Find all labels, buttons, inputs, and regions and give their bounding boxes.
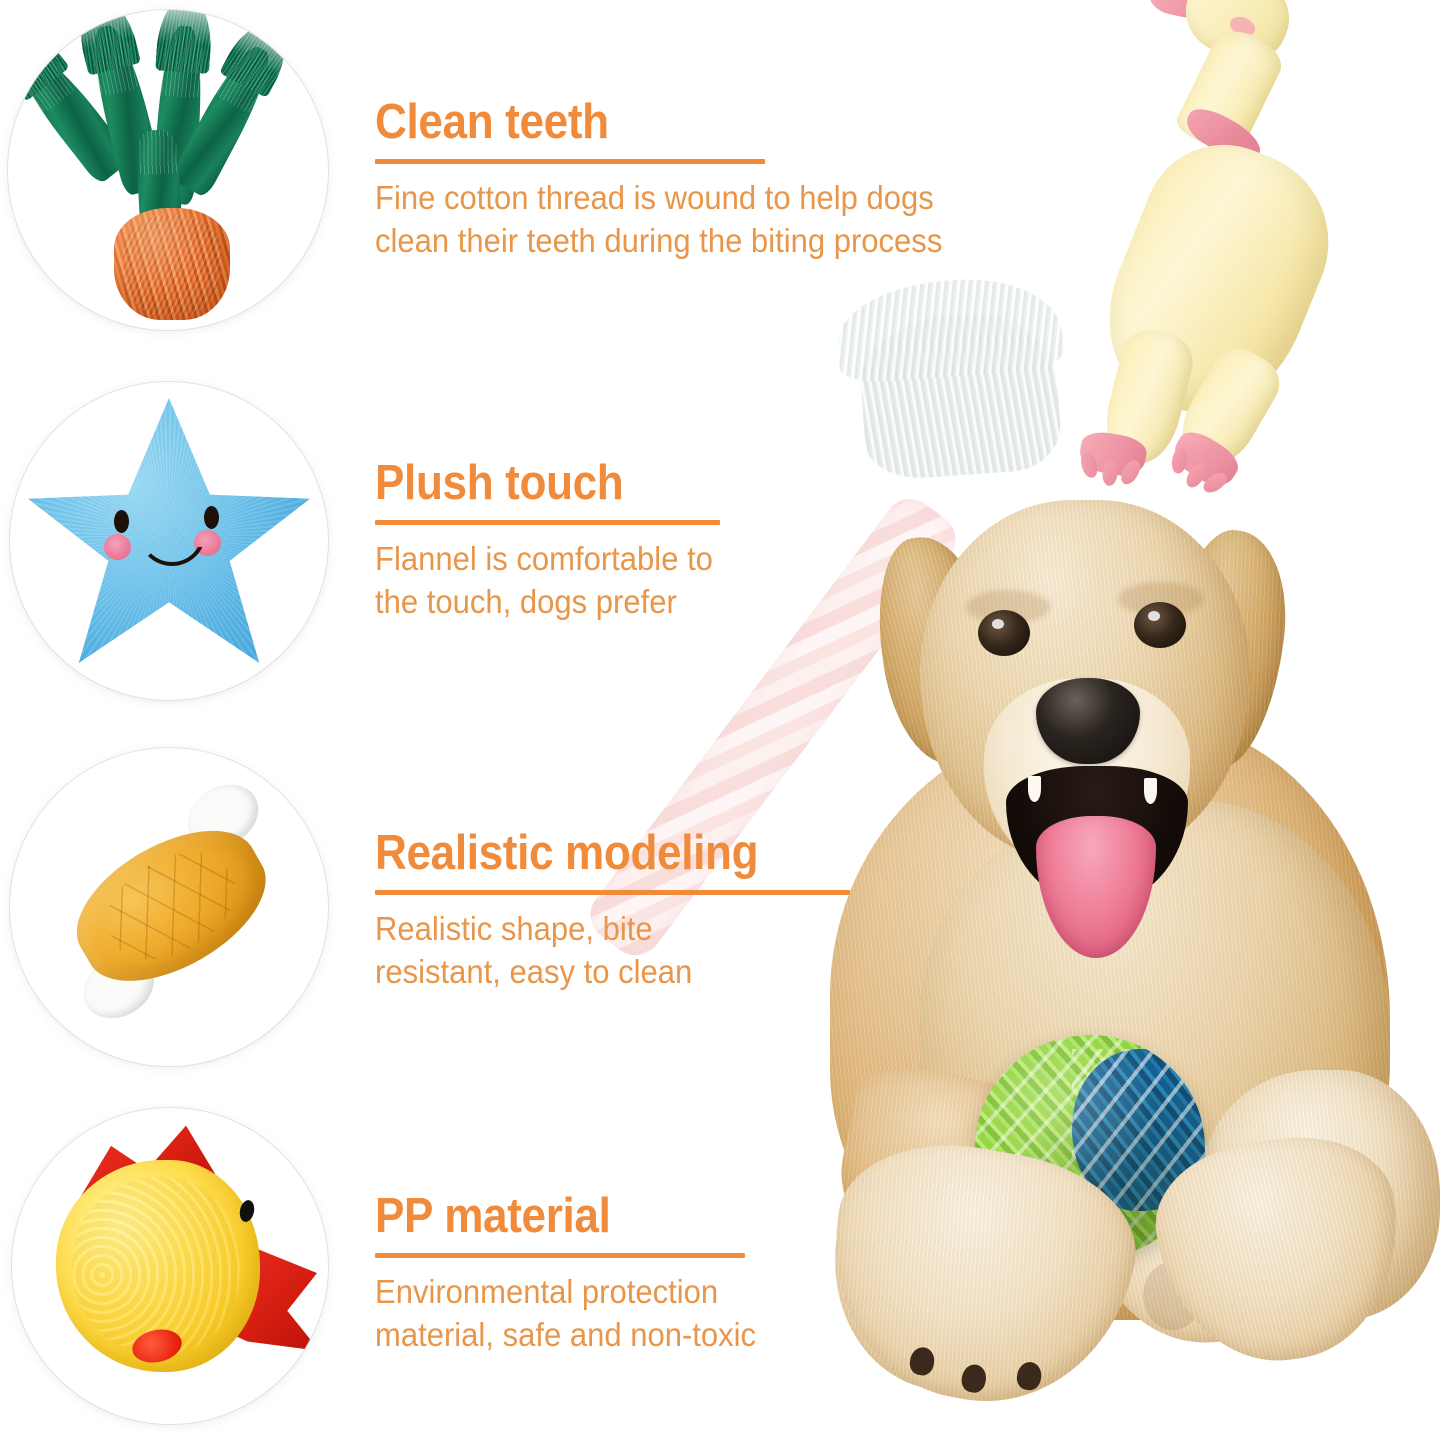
feature-underline [375,159,765,164]
feature-block-pp-material: PP material Environmental protection mat… [375,1192,1055,1357]
feature-description-plush-touch: Flannel is comfortable to the touch, dog… [375,538,977,624]
thumbnail-drumstick-plush-toy[interactable] [10,748,328,1066]
thumbnail-goldfish-rubber-toy[interactable] [12,1108,328,1424]
thumbnail-starfish-plush-toy[interactable] [10,382,328,700]
product-infographic: Clean teeth Fine cotton thread is wound … [0,0,1445,1432]
feature-underline [375,890,850,895]
plush-drumstick-toy-icon [10,748,328,1066]
rubber-goldfish-toy-icon [12,1108,328,1424]
feature-title-plush-touch: Plush touch [375,459,951,508]
feature-title-pp-material: PP material [375,1192,987,1241]
starfish-left-cheek [104,534,131,560]
blue-plush-starfish-toy-icon [10,382,328,700]
carrot-knot [114,208,230,320]
feature-block-clean-teeth: Clean teeth Fine cotton thread is wound … [375,98,1175,263]
dog-right-eye [1134,602,1186,648]
feature-block-realistic-modeling: Realistic modeling Realistic shape, bite… [375,829,1015,994]
feature-title-clean-teeth: Clean teeth [375,98,1095,147]
feature-underline [375,1253,745,1258]
feature-description-clean-teeth: Fine cotton thread is wound to help dogs… [375,177,1127,263]
feature-underline [375,520,720,525]
feature-title-realistic-modeling: Realistic modeling [375,829,951,878]
feature-block-plush-touch: Plush touch Flannel is comfortable to th… [375,459,1015,624]
feature-description-pp-material: Environmental protection material, safe … [375,1271,1014,1357]
thumbnail-carrot-rope-toy[interactable] [8,10,328,330]
starfish-right-eye [204,506,219,529]
starfish-left-eye [114,510,129,533]
carrot-rope-toy-icon [8,10,328,330]
rope-tassel [857,308,1064,481]
feature-description-realistic-modeling: Realistic shape, bite resistant, easy to… [375,908,977,994]
